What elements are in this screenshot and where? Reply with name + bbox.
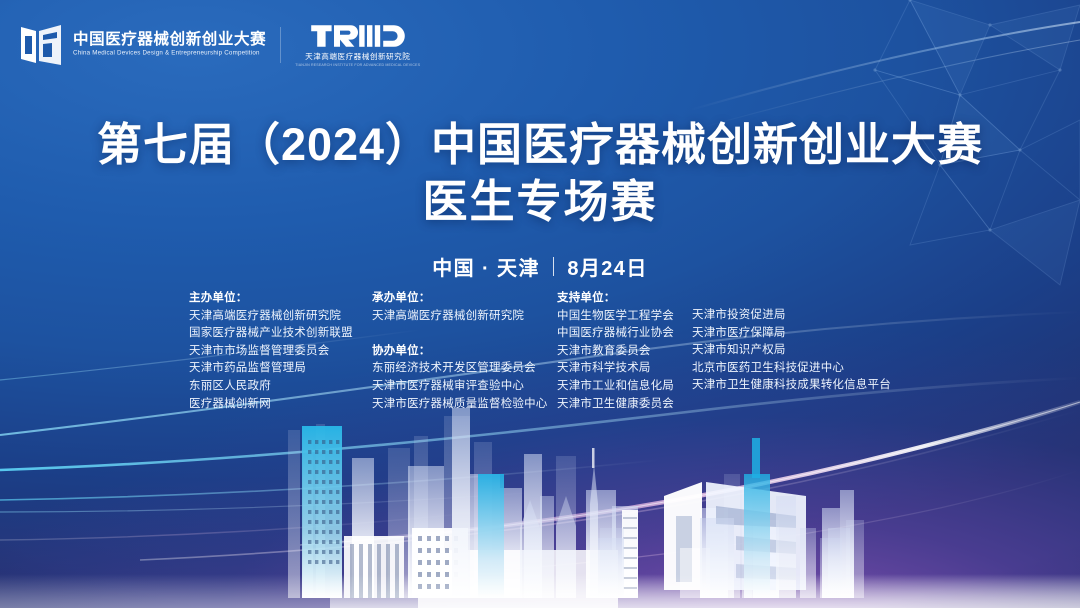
competition-logo-cn: 中国医疗器械创新创业大赛: [73, 32, 266, 48]
org-item: 天津高端医疗器械创新研究院: [189, 308, 353, 326]
institute-logo: 天津高端医疗器械创新研究院 TIANJIN RESEARCH INSTITUTE…: [295, 22, 420, 67]
competition-logo-en: China Medical Devices Design & Entrepren…: [73, 50, 266, 57]
org-item: 东丽区人民政府: [189, 378, 353, 396]
org-item: 天津市投资促进局: [692, 307, 891, 325]
org-heading-secondary: 协办单位：: [372, 343, 548, 361]
org-item: 天津市市场监督管理委员会: [189, 343, 353, 361]
org-item: 中国生物医学工程学会: [557, 308, 674, 326]
institute-logo-cn: 天津高端医疗器械创新研究院: [305, 53, 410, 61]
org-item: 天津市药品监督管理局: [189, 360, 353, 378]
org-column-host: 主办单位： 天津高端医疗器械创新研究院 国家医疗器械产业技术创新联盟 天津市市场…: [189, 290, 353, 413]
org-column-supporters-b: 天津市投资促进局 天津市医疗保障局 天津市知识产权局 北京市医药卫生科技促进中心…: [692, 307, 891, 395]
org-column-organizer: 承办单位： 天津高端医疗器械创新研究院 协办单位： 东丽经济技术开发区管理委员会…: [372, 290, 548, 413]
org-item: 中国医疗器械行业协会: [557, 325, 674, 343]
org-item: 天津市知识产权局: [692, 342, 891, 360]
org-item: 天津高端医疗器械创新研究院: [372, 308, 548, 326]
org-heading: 支持单位：: [557, 290, 674, 308]
org-item: 医疗器械创新网: [189, 396, 353, 414]
org-item: 天津市卫生健康委员会: [557, 396, 674, 414]
org-item: 天津市医疗保障局: [692, 325, 891, 343]
org-item: 天津市医疗器械质量监督检验中心: [372, 396, 548, 414]
org-heading: 主办单位：: [189, 290, 353, 308]
org-item: 天津市教育委员会: [557, 343, 674, 361]
org-column-supporters-a: 支持单位： 中国生物医学工程学会 中国医疗器械行业协会 天津市教育委员会 天津市…: [557, 290, 674, 413]
org-spacer: [372, 325, 548, 343]
organizations-block: 主办单位： 天津高端医疗器械创新研究院 国家医疗器械产业技术创新联盟 天津市市场…: [0, 290, 1080, 430]
org-item: 东丽经济技术开发区管理委员会: [372, 360, 548, 378]
org-item: 国家医疗器械产业技术创新联盟: [189, 325, 353, 343]
open-door-logo-icon: [18, 23, 64, 67]
event-date: 8月24日: [567, 252, 647, 281]
trimd-wordmark-icon: [310, 22, 406, 50]
org-heading: 承办单位：: [372, 290, 548, 308]
competition-logo: 中国医疗器械创新创业大赛 China Medical Devices Desig…: [18, 23, 266, 67]
meta-divider: [553, 257, 555, 276]
logo-bar: 中国医疗器械创新创业大赛 China Medical Devices Desig…: [18, 22, 420, 67]
poster-title-line2: 医生专场赛: [0, 175, 1080, 230]
event-location: 中国 · 天津: [432, 252, 540, 281]
org-item: 天津市卫生健康科技成果转化信息平台: [692, 377, 891, 395]
institute-logo-en: TIANJIN RESEARCH INSTITUTE FOR ADVANCED …: [295, 64, 420, 68]
org-item: 北京市医药卫生科技促进中心: [692, 360, 891, 378]
poster-canvas: 中国医疗器械创新创业大赛 China Medical Devices Desig…: [0, 0, 1080, 608]
org-item: 天津市医疗器械审评查验中心: [372, 378, 548, 396]
event-meta: 中国 · 天津 8月24日: [0, 252, 1080, 281]
logo-divider: [280, 27, 281, 63]
org-item: 天津市科学技术局: [557, 360, 674, 378]
org-item: 天津市工业和信息化局: [557, 378, 674, 396]
poster-title-line1: 第七届（2024）中国医疗器械创新创业大赛: [0, 118, 1080, 171]
title-block: 第七届（2024）中国医疗器械创新创业大赛 医生专场赛 中国 · 天津 8月24…: [0, 118, 1080, 281]
